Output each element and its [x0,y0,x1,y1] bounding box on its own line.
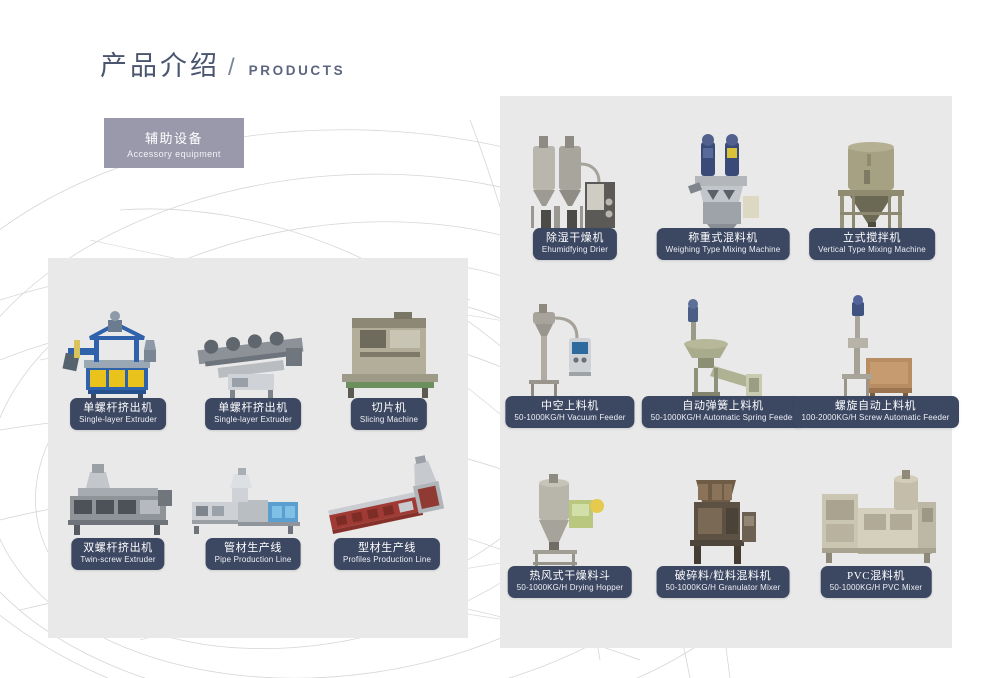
product-label-cn: 单螺杆挤出机 [83,402,153,415]
product-label-cn: 单螺杆挤出机 [218,402,288,415]
product-image-extruder-blue-yellow [58,304,178,404]
product-label-cn: 型材生产线 [358,542,416,555]
product-label-pill[interactable]: 除湿干燥机 Ehumidfying Drier [533,228,617,260]
product-label-cn: 双螺杆挤出机 [83,542,153,555]
product-card-granulator-mixer[interactable]: 破碎料/粒料混料机 50-1000KG/H Granulator Mixer [658,468,788,598]
product-label-cn: 管材生产线 [224,542,282,555]
product-card-spring-feeder[interactable]: 自动弹簧上料机 50-1000KG/H Automatic Spring Fee… [658,298,788,428]
page-title-en: PRODUCTS [249,63,346,78]
product-label-cn: PVC混料机 [847,570,905,583]
product-image-profiles-production-line [325,444,449,544]
product-card-single-layer-extruder-1[interactable]: 单螺杆挤出机 Single-layer Extruder [58,300,178,430]
page-title-cn: 产品介绍 [100,44,220,83]
product-label-cn: 切片机 [372,402,407,415]
product-label-cn: 热风式干燥料斗 [529,570,610,583]
product-label-cn: 称重式混料机 [688,232,758,245]
product-card-pipe-production-line[interactable]: 管材生产线 Pipe Production Line [193,440,313,570]
product-label-pill[interactable]: 称重式混料机 Weighing Type Mixing Machine [657,228,790,260]
product-label-en: Pipe Production Line [215,555,292,565]
product-image-granulator-mixer [658,472,788,572]
product-label-en: 50-1000KG/H Granulator Mixer [666,583,781,593]
product-label-cn: 中空上料机 [541,400,599,413]
product-image-dehumidifying-drier [515,134,635,234]
product-card-drying-hopper[interactable]: 热风式干燥料斗 50-1000KG/H Drying Hopper [505,468,635,598]
product-image-weighing-mixer [663,134,783,234]
product-label-cn: 除湿干燥机 [546,232,604,245]
product-label-en: Vertical Type Mixing Machine [818,245,926,255]
product-label-en: Twin-screw Extruder [80,555,155,565]
page-root: 产品介绍 / PRODUCTS 辅助设备 Accessory equipment [0,0,1000,678]
product-card-profiles-production-line[interactable]: 型材生产线 Profiles Production Line [325,440,449,570]
product-label-en: Slicing Machine [360,415,418,425]
product-label-cn: 自动弹簧上料机 [682,400,763,413]
product-label-pill[interactable]: 单螺杆挤出机 Single-layer Extruder [70,398,166,430]
product-label-pill[interactable]: 热风式干燥料斗 50-1000KG/H Drying Hopper [508,566,632,598]
product-card-dehumidifying-drier[interactable]: 除湿干燥机 Ehumidfying Drier [515,130,635,260]
product-image-vertical-mixer [812,134,932,234]
accessory-tag-label-cn: 辅助设备 [145,128,203,147]
product-card-twin-screw-extruder[interactable]: 双螺杆挤出机 Twin-screw Extruder [58,440,178,570]
product-label-en: 100-2000KG/H Screw Automatic Feeder [802,413,950,423]
product-card-pvc-mixer[interactable]: PVC混料机 50-1000KG/H PVC Mixer [806,468,946,598]
product-label-en: 50-1000KG/H Automatic Spring Feeder [651,413,795,423]
product-label-en: Weighing Type Mixing Machine [666,245,781,255]
product-label-en: Single-layer Extruder [214,415,292,425]
accessory-equipment-tag[interactable]: 辅助设备 Accessory equipment [104,118,244,168]
product-label-pill[interactable]: 单螺杆挤出机 Single-layer Extruder [205,398,301,430]
product-image-pvc-mixer [806,472,946,572]
product-label-en: Profiles Production Line [343,555,431,565]
product-label-pill[interactable]: 螺旋自动上料机 100-2000KG/H Screw Automatic Fee… [793,396,959,428]
product-card-weighing-mixer[interactable]: 称重式混料机 Weighing Type Mixing Machine [663,130,783,260]
product-label-pill[interactable]: 双螺杆挤出机 Twin-screw Extruder [71,538,164,570]
product-label-cn: 螺旋自动上料机 [835,400,916,413]
product-image-drying-hopper [505,472,635,572]
product-image-twin-screw-extruder [58,444,178,544]
product-label-cn: 立式搅拌机 [843,232,901,245]
product-card-vertical-mixer[interactable]: 立式搅拌机 Vertical Type Mixing Machine [812,130,932,260]
product-image-pipe-production-line [193,444,313,544]
product-card-vacuum-feeder[interactable]: 中空上料机 50-1000KG/H Vacuum Feeder [505,298,635,428]
product-label-pill[interactable]: 中空上料机 50-1000KG/H Vacuum Feeder [505,396,634,428]
product-label-en: Ehumidfying Drier [542,245,608,255]
product-label-pill[interactable]: 切片机 Slicing Machine [351,398,427,430]
product-image-spring-feeder [658,302,788,402]
product-label-pill[interactable]: PVC混料机 50-1000KG/H PVC Mixer [821,566,932,598]
product-label-en: Single-layer Extruder [79,415,157,425]
product-image-vacuum-feeder [505,302,635,402]
product-label-cn: 破碎料/粒料混料机 [675,570,771,583]
page-title: 产品介绍 / PRODUCTS [100,44,345,83]
product-label-pill[interactable]: 破碎料/粒料混料机 50-1000KG/H Granulator Mixer [657,566,790,598]
product-card-slicing-machine[interactable]: 切片机 Slicing Machine [330,300,448,430]
product-label-en: 50-1000KG/H PVC Mixer [830,583,923,593]
product-label-pill[interactable]: 立式搅拌机 Vertical Type Mixing Machine [809,228,935,260]
product-image-screw-feeder [808,302,943,402]
product-label-pill[interactable]: 管材生产线 Pipe Production Line [206,538,301,570]
accessory-tag-label-en: Accessory equipment [127,149,221,159]
product-image-slicing-machine [330,304,448,404]
product-label-pill[interactable]: 自动弹簧上料机 50-1000KG/H Automatic Spring Fee… [642,396,804,428]
product-label-en: 50-1000KG/H Vacuum Feeder [514,413,625,423]
product-image-extruder-gray-roller [193,304,313,404]
title-separator: / [228,54,235,82]
product-label-pill[interactable]: 型材生产线 Profiles Production Line [334,538,440,570]
product-label-en: 50-1000KG/H Drying Hopper [517,583,623,593]
product-card-single-layer-extruder-2[interactable]: 单螺杆挤出机 Single-layer Extruder [193,300,313,430]
product-card-screw-feeder[interactable]: 螺旋自动上料机 100-2000KG/H Screw Automatic Fee… [808,298,943,428]
